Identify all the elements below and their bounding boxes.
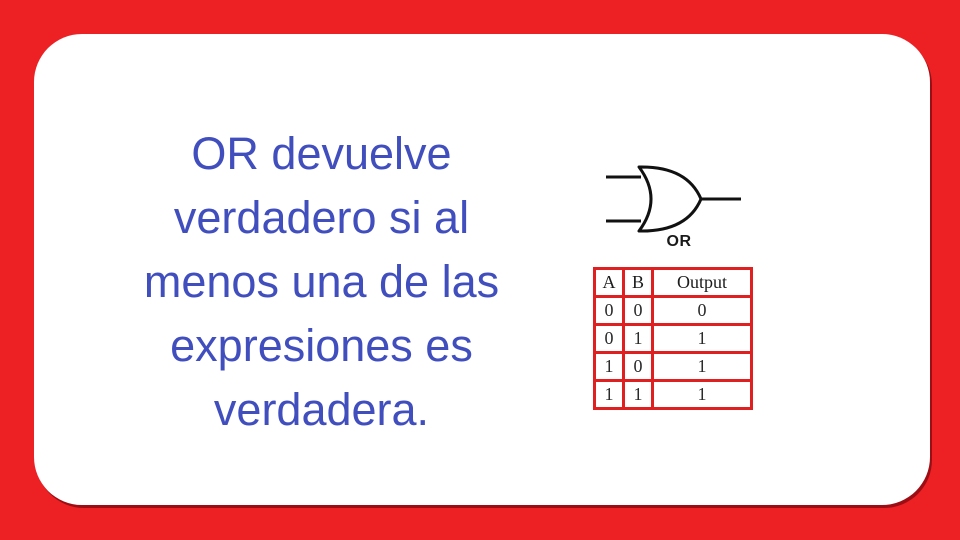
or-gate-body [639,167,701,231]
content-card: OR devuelve verdadero si al menos una de… [34,34,930,505]
slide-canvas: OR devuelve verdadero si al menos una de… [0,0,960,540]
cell-b: 1 [625,382,654,407]
table-row: 0 1 1 [596,326,750,354]
cell-b: 0 [625,298,654,326]
cell-a: 1 [596,354,625,382]
cell-b: 1 [625,326,654,354]
cell-a: 1 [596,382,625,407]
header-cell-a: A [596,270,625,298]
cell-b: 0 [625,354,654,382]
or-truth-table: A B Output 0 0 0 0 1 1 1 [593,267,753,410]
cell-a: 0 [596,326,625,354]
cell-output: 1 [654,326,750,354]
header-cell-output: Output [654,270,750,298]
truth-table-container: A B Output 0 0 0 0 1 1 1 [593,267,753,410]
or-gate-label: OR [579,233,779,251]
header-cell-b: B [625,270,654,298]
table-row: 1 0 1 [596,354,750,382]
table-row: 0 0 0 [596,298,750,326]
cell-output: 1 [654,354,750,382]
table-header-row: A B Output [596,270,750,298]
cell-a: 0 [596,298,625,326]
cell-output: 0 [654,298,750,326]
cell-output: 1 [654,382,750,407]
table-row: 1 1 1 [596,382,750,407]
explanation-text: OR devuelve verdadero si al menos una de… [94,122,549,442]
